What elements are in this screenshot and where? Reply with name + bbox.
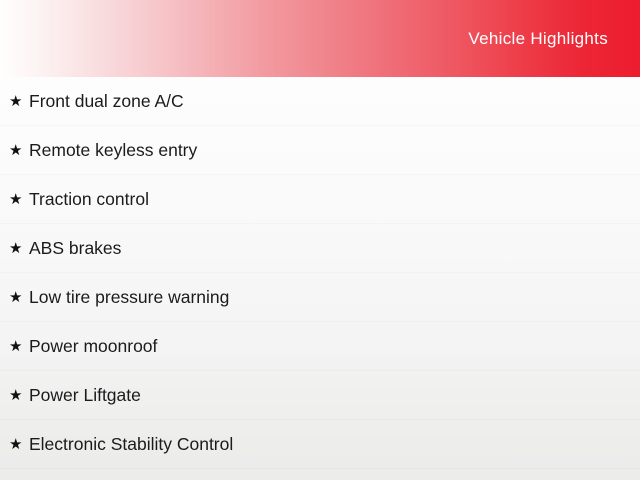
star-icon: ★ [9,94,29,109]
star-icon: ★ [9,437,29,452]
highlight-label: Power Liftgate [29,385,141,406]
list-item: ★ Electronic Stability Control [0,420,640,469]
highlight-label: ABS brakes [29,238,121,259]
star-icon: ★ [9,339,29,354]
highlight-label: Power moonroof [29,336,157,357]
highlight-label: Traction control [29,189,149,210]
list-item: ★ Front dual zone A/C [0,77,640,126]
highlight-label: Low tire pressure warning [29,287,229,308]
list-item: ★ Power moonroof [0,322,640,371]
highlight-label: Front dual zone A/C [29,91,184,112]
header-banner: Vehicle Highlights [0,0,640,77]
star-icon: ★ [9,143,29,158]
list-item: ★ ABS brakes [0,224,640,273]
highlights-list: ★ Front dual zone A/C ★ Remote keyless e… [0,77,640,469]
highlight-label: Electronic Stability Control [29,434,233,455]
page-title: Vehicle Highlights [468,29,608,49]
vehicle-highlights-page: Vehicle Highlights ★ Front dual zone A/C… [0,0,640,480]
list-item: ★ Remote keyless entry [0,126,640,175]
star-icon: ★ [9,388,29,403]
star-icon: ★ [9,290,29,305]
star-icon: ★ [9,192,29,207]
list-item: ★ Traction control [0,175,640,224]
highlight-label: Remote keyless entry [29,140,197,161]
list-item: ★ Power Liftgate [0,371,640,420]
star-icon: ★ [9,241,29,256]
list-item: ★ Low tire pressure warning [0,273,640,322]
